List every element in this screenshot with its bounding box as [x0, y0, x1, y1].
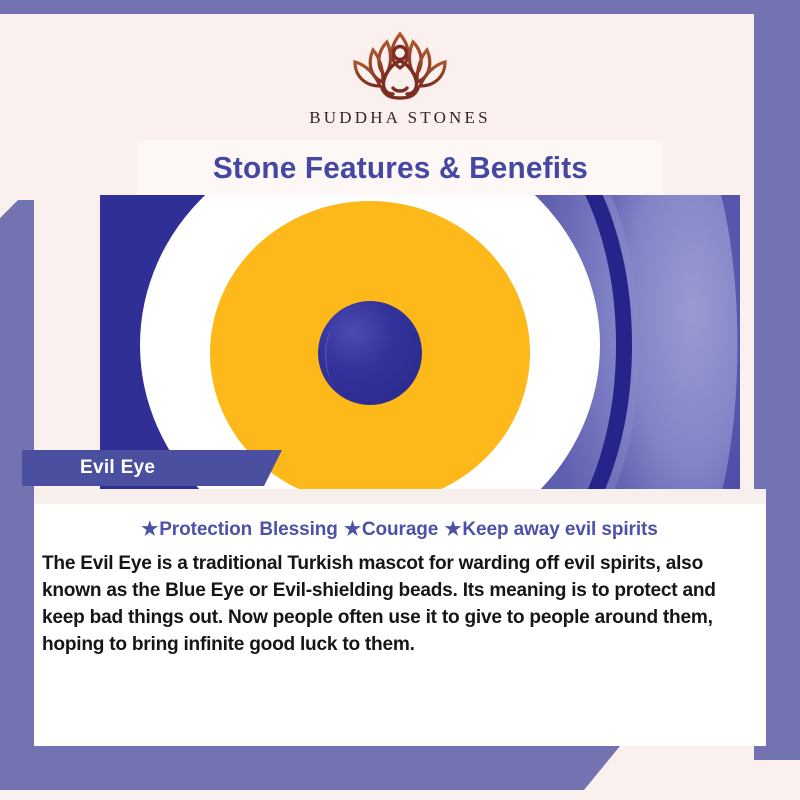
star-icon-2: ★	[344, 519, 361, 540]
content-card: ★Protection Blessing ★Courage ★Keep away…	[34, 504, 766, 746]
feature-blessing: Blessing	[259, 519, 337, 540]
card-top-strip	[34, 489, 766, 504]
hero-label-text: Evil Eye	[22, 457, 155, 479]
lotus-meditation-logo-icon	[325, 26, 475, 106]
star-icon-3: ★	[444, 519, 461, 540]
title-banner: Stone Features & Benefits	[137, 140, 663, 195]
brand-name: BUDDHA STONES	[309, 108, 491, 128]
star-icon-1: ★	[141, 519, 158, 540]
feature-keep-away-evil-spirits: Keep away evil spirits	[462, 519, 657, 540]
infographic-poster: BUDDHA STONES Stone Features & Benefits	[0, 0, 800, 800]
page-title: Stone Features & Benefits	[212, 150, 587, 186]
frame-top-band	[0, 0, 800, 14]
description-paragraph: The Evil Eye is a traditional Turkish ma…	[42, 550, 746, 658]
hero-label-banner: Evil Eye	[22, 450, 282, 486]
feature-courage: Courage	[362, 519, 438, 540]
brand-header: BUDDHA STONES	[0, 14, 800, 144]
feature-protection: Protection	[159, 519, 252, 540]
features-list: ★Protection Blessing ★Courage ★Keep away…	[34, 518, 766, 541]
frame-bottom-band	[0, 746, 620, 790]
